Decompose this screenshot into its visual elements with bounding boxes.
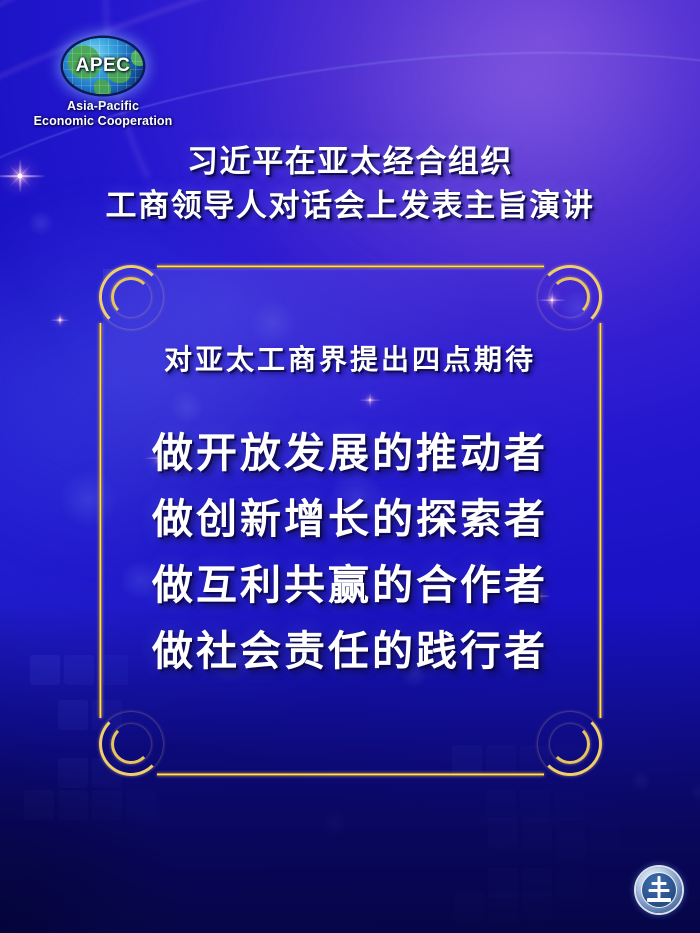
frame-corner-top-right [542, 265, 602, 325]
frame-edge-top [157, 265, 544, 268]
apec-tagline-line2: Economic Cooperation [34, 114, 173, 128]
apec-logo: APEC Asia-Pacific Economic Cooperation [28, 38, 178, 126]
apec-globe-icon: APEC [63, 38, 143, 94]
frame-corner-bottom-right [542, 716, 602, 776]
point-item: 做开放发展的推动者 [0, 420, 700, 486]
frame-corner-bottom-left [99, 716, 159, 776]
poster-canvas: APEC Asia-Pacific Economic Cooperation 习… [0, 0, 700, 933]
apec-tagline-line1: Asia-Pacific [67, 99, 139, 113]
four-points-list: 做开放发展的推动者 做创新增长的探索者 做互利共赢的合作者 做社会责任的践行者 [0, 420, 700, 684]
frame-subtitle: 对亚太工商界提出四点期待 [0, 338, 700, 378]
frame-edge-bottom [157, 773, 544, 776]
apec-tagline: Asia-Pacific Economic Cooperation [28, 99, 178, 129]
page-title-line1: 习近平在亚太经合组织 [0, 140, 700, 184]
point-item: 做社会责任的践行者 [0, 618, 700, 684]
frame-corner-top-left [99, 265, 159, 325]
page-title-line2: 工商领导人对话会上发表主旨演讲 [0, 184, 700, 228]
point-item: 做创新增长的探索者 [0, 486, 700, 552]
page-title: 习近平在亚太经合组织 工商领导人对话会上发表主旨演讲 [0, 140, 700, 228]
point-item: 做互利共赢的合作者 [0, 552, 700, 618]
apec-wordmark: APEC [63, 55, 143, 77]
broadcast-station-emblem-icon [636, 867, 682, 913]
